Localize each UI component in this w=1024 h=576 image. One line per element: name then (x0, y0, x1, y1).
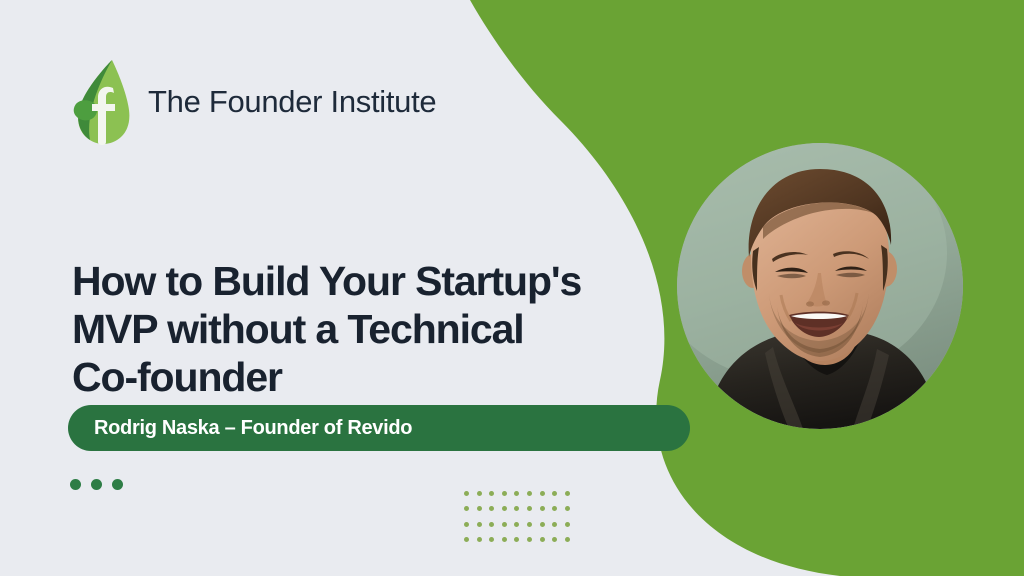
grid-dot (502, 537, 507, 542)
grid-dot (464, 522, 469, 527)
grid-dot (464, 506, 469, 511)
grid-dot (489, 491, 494, 496)
grid-dot (540, 506, 545, 511)
speaker-name-label: Rodrig Naska – Founder of Revido (68, 417, 412, 440)
grid-dot (489, 522, 494, 527)
grid-dot (502, 522, 507, 527)
leaf-f-icon (72, 58, 134, 146)
grid-dot (527, 522, 532, 527)
decorative-dot-grid (464, 491, 577, 552)
grid-dot (527, 491, 532, 496)
grid-dot (540, 522, 545, 527)
grid-dot (477, 537, 482, 542)
grid-dot (565, 537, 570, 542)
speaker-avatar (677, 143, 963, 429)
grid-dot (514, 522, 519, 527)
grid-dot (502, 506, 507, 511)
grid-dot (527, 537, 532, 542)
grid-dot (565, 506, 570, 511)
grid-dot (477, 522, 482, 527)
grid-dot (502, 491, 507, 496)
speaker-portrait-illustration (677, 143, 963, 429)
grid-dot (527, 506, 532, 511)
brand-name: The Founder Institute (148, 84, 436, 120)
grid-dot (565, 522, 570, 527)
grid-dot (514, 506, 519, 511)
grid-dot (552, 506, 557, 511)
grid-dot (552, 537, 557, 542)
decorative-dot-row (70, 479, 123, 490)
grid-dot (552, 522, 557, 527)
grid-dot (477, 491, 482, 496)
grid-dot (464, 537, 469, 542)
grid-dot (540, 537, 545, 542)
title-line-2: MVP without a Technical (72, 306, 672, 354)
grid-dot (489, 506, 494, 511)
grid-dot (565, 491, 570, 496)
grid-dot (552, 491, 557, 496)
grid-dot (514, 537, 519, 542)
grid-dot (489, 537, 494, 542)
grid-dot (514, 491, 519, 496)
presentation-title-slide: The Founder Institute How to Build Your … (0, 0, 1024, 576)
grid-dot (540, 491, 545, 496)
dot (70, 479, 81, 490)
grid-dot (464, 491, 469, 496)
title-line-1: How to Build Your Startup's (72, 258, 672, 306)
speaker-badge: Rodrig Naska – Founder of Revido (68, 405, 690, 451)
dot (91, 479, 102, 490)
title-line-3: Co-founder (72, 354, 672, 402)
brand-logo[interactable]: The Founder Institute (72, 58, 436, 146)
dot (112, 479, 123, 490)
page-title: How to Build Your Startup's MVP without … (72, 258, 672, 402)
grid-dot (477, 506, 482, 511)
